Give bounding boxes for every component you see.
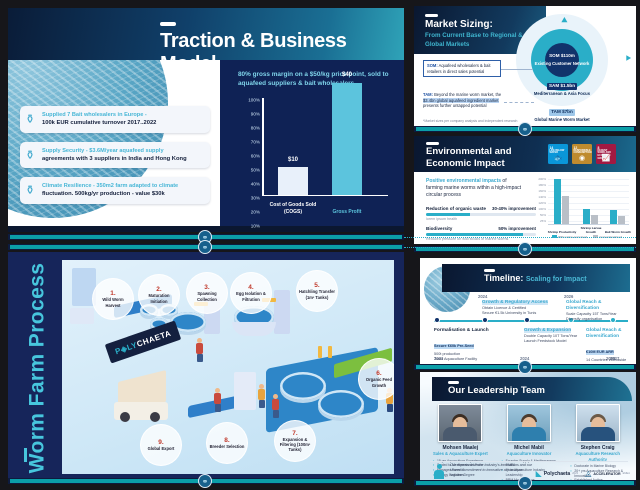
y-tick: 30% bbox=[240, 196, 260, 201]
status-badge: TAM $7bn bbox=[549, 109, 575, 117]
expansion-tank-graphic bbox=[280, 372, 326, 400]
timeline-node[interactable] bbox=[482, 317, 488, 323]
event-item: Diversify organisation bbox=[566, 317, 632, 322]
slide-team-header: Our Leadership Team bbox=[432, 377, 632, 401]
process-step-2[interactable]: 2. Maturation Initiation bbox=[138, 274, 180, 316]
process-step-9[interactable]: 9. Global Export bbox=[140, 424, 182, 466]
ring-label-tam: TAM $7bn Global Marine Worm Market bbox=[530, 106, 594, 124]
header-dash bbox=[160, 22, 176, 26]
bar-label-cogs: $10 bbox=[270, 157, 316, 163]
x-tick-gross-profit: Gross Profit bbox=[316, 209, 378, 216]
note-label: SOM: bbox=[427, 63, 438, 68]
metric-value-suffix: improvement bbox=[508, 206, 536, 211]
hook-icon: ⚱ bbox=[25, 148, 37, 162]
card-body: 100k EUR cumulative turnover 2017..2022 bbox=[42, 119, 204, 128]
timeline-event-below-2[interactable]: Growth & Expansion Double Capacity 10T T… bbox=[524, 328, 590, 345]
sdg-12-icon: 12 RESPONSIBLE CONSUMPTION ◉ bbox=[572, 144, 592, 164]
header-dash bbox=[484, 269, 495, 272]
y-tick: 200% bbox=[534, 177, 546, 181]
card-body: agreements with 3 suppliers in India and… bbox=[42, 155, 204, 164]
pillar-graphic bbox=[274, 290, 290, 334]
y-tick: 100% bbox=[240, 98, 260, 103]
metric-organic-waste: Reduction of organic waste 30-40% improv… bbox=[426, 206, 536, 221]
y-tick: 180% bbox=[534, 183, 546, 187]
hook-icon: ⚱ bbox=[25, 183, 37, 197]
progress-track bbox=[426, 213, 536, 216]
process-step-1[interactable]: 1. Wild Worm Harvest bbox=[92, 278, 134, 320]
status-badge: SAM $1.5bn bbox=[547, 83, 577, 91]
event-item: Launch Feedstock Model bbox=[524, 339, 590, 344]
ring-label-sam: SAM $1.5bn Mediterranean & Asia Focus bbox=[530, 80, 594, 98]
worker-graphic bbox=[272, 394, 279, 418]
process-step-6[interactable]: 6. Organic Feed Growth bbox=[358, 358, 394, 400]
bar-shrimp-productivity-worm bbox=[554, 179, 561, 224]
card-lead: Climate Resilience - 350m2 farm adapted … bbox=[42, 182, 204, 190]
traction-left-pane: ⚱ Supplied 7 Bait wholesalers in Europe … bbox=[8, 60, 220, 226]
metric-biodiversity: Biodiversity 50% improvement Reduced pre… bbox=[426, 226, 536, 241]
margin-bar-chart: 100% 90% 80% 70% 60% 50% 40% 30% 20% 10%… bbox=[240, 98, 390, 218]
lead-bold: Positive environmental impacts bbox=[426, 178, 501, 184]
metric-value: 30-40% bbox=[492, 206, 507, 211]
metric-name: Biodiversity bbox=[426, 226, 452, 231]
footnote: *Market sizes per company analysis and i… bbox=[423, 119, 517, 123]
avatar bbox=[438, 404, 482, 442]
slide-timeline[interactable]: Timeline: Scaling for Impact 2023 2024 2… bbox=[420, 258, 636, 368]
timeline-year: 2024 bbox=[478, 294, 487, 299]
slide-traction-header: Traction & Business Model bbox=[8, 8, 404, 60]
ring-label-som: SOM $110m Existing Customer Network bbox=[534, 50, 590, 68]
y-tick: 160% bbox=[534, 189, 546, 193]
slide-timeline-header: Timeline: Scaling for Impact bbox=[442, 264, 630, 292]
page-title: Market Sizing: bbox=[425, 19, 493, 30]
header-dash bbox=[426, 142, 439, 145]
y-tick: 120% bbox=[534, 201, 546, 205]
x-tick: Shrimp Larvae Growth bbox=[576, 227, 606, 235]
page-title: Environmental and Economic Impact bbox=[426, 146, 512, 169]
y-tick: 50% bbox=[534, 213, 546, 217]
title-dash bbox=[24, 448, 27, 462]
x-axis bbox=[262, 195, 388, 197]
list-item[interactable]: ⚱ Supply Security - $3.6M/year aquafeed … bbox=[20, 142, 210, 169]
page-title: Our Leadership Team bbox=[448, 385, 545, 396]
timeline-event-above-2[interactable]: Global Reach & Diversification Scale Cap… bbox=[566, 300, 632, 323]
impact-bar-chart: 200% 180% 160% 140% 120% 100% 50% 25% Sh… bbox=[534, 176, 630, 238]
timeline-node[interactable] bbox=[524, 317, 530, 323]
market-ring-diagram: ⯅ ⯅ ⯈ SOM $110m Existing Customer Networ… bbox=[516, 14, 608, 106]
traction-card-list: ⚱ Supplied 7 Bait wholesalers in Europe … bbox=[20, 106, 210, 213]
nav-knob-icon[interactable]: ⚭ bbox=[518, 242, 532, 256]
y-tick: 90% bbox=[240, 112, 260, 117]
chart-up-icon: 📈 bbox=[602, 155, 611, 162]
bar-label-gross-profit: $40 bbox=[324, 72, 370, 78]
y-tick: 100% bbox=[534, 207, 546, 211]
sdg-14-icon: 14 LIFE BELOW WATER 🐟 bbox=[548, 144, 568, 164]
worker-graphic bbox=[196, 338, 203, 362]
bar-cogs bbox=[278, 167, 308, 195]
bar-gross-profit bbox=[332, 83, 362, 195]
arrow-up-icon: ⯅ bbox=[560, 16, 569, 27]
y-tick: 10% bbox=[240, 224, 260, 229]
nav-knob-icon[interactable]: ⚭ bbox=[518, 122, 532, 136]
avatar bbox=[576, 404, 620, 442]
wheel-graphic bbox=[150, 412, 160, 422]
y-tick: 20% bbox=[240, 210, 260, 215]
note-connector bbox=[501, 69, 533, 70]
event-title: Global Reach & Diversification bbox=[586, 328, 636, 340]
member-role: Sales & Aquaculture Expert bbox=[430, 451, 491, 457]
pipe-graphic bbox=[328, 346, 332, 358]
bar-bait-conv bbox=[618, 216, 625, 224]
nav-knob-icon[interactable]: ⚭ bbox=[198, 240, 212, 254]
title-line-1: Environmental and bbox=[426, 146, 512, 157]
note-tail: presents further untapped potential bbox=[423, 103, 487, 108]
page-title: Worm Farm Process bbox=[14, 252, 60, 484]
metric-name: Reduction of organic waste bbox=[426, 206, 486, 211]
event-item: Tunis Aquaculture Facility bbox=[434, 357, 500, 362]
tank-base-graphic bbox=[232, 322, 276, 336]
timeline-node[interactable] bbox=[434, 317, 440, 323]
traction-chart-pane: 80% gross margin on a $50/kg price point… bbox=[220, 60, 404, 226]
sdg-8-icon: 8 DECENT WORK AND ECONOMIC GROWTH 📈 bbox=[596, 144, 616, 164]
process-step-8[interactable]: 8. Breeder Selection bbox=[206, 422, 248, 464]
nav-knob-icon[interactable]: ⚭ bbox=[518, 476, 532, 490]
x-tick-cogs: Cost of Goods Sold (COGS) bbox=[262, 202, 324, 216]
list-item[interactable]: ⚱ Climate Resilience - 350m2 farm adapte… bbox=[20, 177, 210, 204]
title-line-2: Economic Impact bbox=[426, 158, 505, 169]
brand-sign: P◈LYCHAETA bbox=[105, 320, 181, 363]
timeline-event-below-1[interactable]: Formalisation & Launch Secure €60k Pre-S… bbox=[434, 328, 500, 363]
header-dash bbox=[425, 14, 438, 17]
slide-traction-business-model[interactable]: Traction & Business Model ⚱ Supplied 7 B… bbox=[8, 8, 404, 232]
expansion-tank-graphic bbox=[318, 390, 364, 418]
note-connector bbox=[504, 102, 534, 103]
machine-graphic bbox=[234, 372, 256, 410]
event-title: Global Reach & Diversification bbox=[566, 300, 632, 312]
note-text: Beyond the marine worm market, the bbox=[433, 92, 501, 97]
card-body: fluctuation. 500kg/yr production - value… bbox=[42, 190, 204, 199]
impact-lead-text: Positive environmental impacts of farmin… bbox=[426, 178, 522, 199]
bar-larvae-worm bbox=[583, 209, 590, 224]
note-tam[interactable]: TAM: Beyond the marine worm market, the … bbox=[423, 92, 503, 109]
y-tick: 70% bbox=[240, 140, 260, 145]
note-highlight: $3.4bn global aquafeed ingredient market bbox=[423, 98, 499, 103]
event-item: €10M EUR ARR bbox=[586, 350, 614, 355]
event-item: Secure €1.5k University in Tunis bbox=[482, 311, 548, 316]
ring-caption: Existing Customer Network bbox=[534, 61, 590, 68]
bar-shrimp-productivity-conv bbox=[562, 196, 569, 224]
note-label: TAM: bbox=[423, 92, 433, 97]
slide-leadership-team[interactable]: Our Leadership Team Mohsen Maalej Sales … bbox=[420, 372, 636, 484]
metric-sub: lorem ipsum health bbox=[426, 217, 536, 221]
pipe-graphic bbox=[318, 346, 322, 358]
slide-impact-header: Environmental and Economic Impact 14 LIF… bbox=[414, 136, 636, 172]
metric-value: 50% bbox=[498, 226, 507, 231]
page-title: Timeline: Scaling for Impact bbox=[484, 273, 587, 283]
timeline-event-above-1[interactable]: Growth & Regulatory Access Obtain Licenc… bbox=[482, 300, 548, 317]
arrow-right-icon: ⯈ bbox=[624, 55, 632, 65]
metric-value-suffix: improvement bbox=[508, 226, 536, 231]
status-badge: SOM $110m bbox=[547, 53, 577, 61]
y-tick: 60% bbox=[240, 154, 260, 159]
list-item[interactable]: ⚱ Supplied 7 Bait wholesalers in Europe … bbox=[20, 106, 210, 133]
process-illustration: P◈LYCHAETA bbox=[62, 260, 394, 474]
y-tick: 50% bbox=[240, 168, 260, 173]
hook-icon: ⚱ bbox=[25, 112, 37, 126]
process-step-7[interactable]: 7. Expansion & Filtering (100m³ Tanks) bbox=[274, 420, 316, 462]
bar-larvae-conv bbox=[591, 215, 598, 224]
fish-icon: 🐟 bbox=[554, 155, 563, 162]
y-tick: 140% bbox=[534, 195, 546, 199]
card-lead: Supplied 7 Bait wholesalers in Europe - bbox=[42, 111, 204, 119]
event-title: Formalisation & Launch bbox=[434, 328, 500, 334]
process-step-5[interactable]: 5. Hatchling Transfer (1m³ Tanks) bbox=[296, 270, 338, 312]
ring-caption: Global Marine Worm Market bbox=[530, 117, 594, 124]
page-subtitle: Scaling for Impact bbox=[526, 276, 587, 283]
y-tick: 40% bbox=[240, 182, 260, 187]
slide-environmental-impact[interactable]: Environmental and Economic Impact 14 LIF… bbox=[414, 136, 636, 244]
timeline-year: 2026 bbox=[564, 294, 573, 299]
slide-grid-canvas: Traction & Business Model ⚱ Supplied 7 B… bbox=[0, 0, 640, 490]
y-axis bbox=[262, 98, 264, 196]
ring-caption: Mediterranean & Asia Focus bbox=[530, 91, 594, 98]
member-role: Aquaculture Innovator bbox=[499, 451, 560, 457]
process-step-4[interactable]: 4. Egg Isolation & Filtration bbox=[230, 272, 272, 314]
bar-bait-worm bbox=[610, 210, 617, 224]
event-item: Secure €60k Pre-Seed bbox=[434, 344, 474, 349]
nav-knob-icon[interactable]: ⚭ bbox=[198, 474, 212, 488]
divider bbox=[430, 461, 628, 462]
slide-market-sizing[interactable]: Market Sizing: From Current Base to Regi… bbox=[414, 6, 636, 132]
arrow-up-icon: ⯅ bbox=[560, 33, 569, 44]
crate-stack-graphic bbox=[70, 308, 94, 324]
eye-icon: ◉ bbox=[579, 155, 585, 162]
logo-accelerator: ◬ ACCELERATOR EMEA bbox=[585, 469, 630, 478]
worker-graphic bbox=[214, 388, 221, 412]
nav-knob-icon[interactable]: ⚭ bbox=[518, 360, 532, 374]
x-axis bbox=[548, 224, 629, 225]
logo-polychaeta: ◣ Polychaeta 2023 bbox=[536, 469, 578, 478]
timeline-year: 2027 bbox=[610, 356, 619, 361]
dotted-connector bbox=[404, 237, 636, 238]
y-tick: 80% bbox=[240, 126, 260, 131]
worker-graphic bbox=[258, 384, 265, 408]
people-icon bbox=[432, 464, 446, 479]
y-tick: 25% bbox=[534, 219, 546, 223]
card-lead: Supply Security - $3.6M/year aquafeed su… bbox=[42, 147, 204, 155]
slide-worm-farm-process[interactable]: Worm Farm Process P◈LYCHAETA bbox=[8, 252, 404, 484]
avatar bbox=[507, 404, 551, 442]
header-dash bbox=[448, 381, 459, 384]
note-som[interactable]: SOM: Aquafeed wholesalers & bait retaile… bbox=[423, 60, 501, 77]
process-step-3[interactable]: 3. Spawning Collection bbox=[186, 272, 228, 314]
progress-track bbox=[426, 233, 536, 236]
wheel-graphic bbox=[120, 412, 130, 422]
